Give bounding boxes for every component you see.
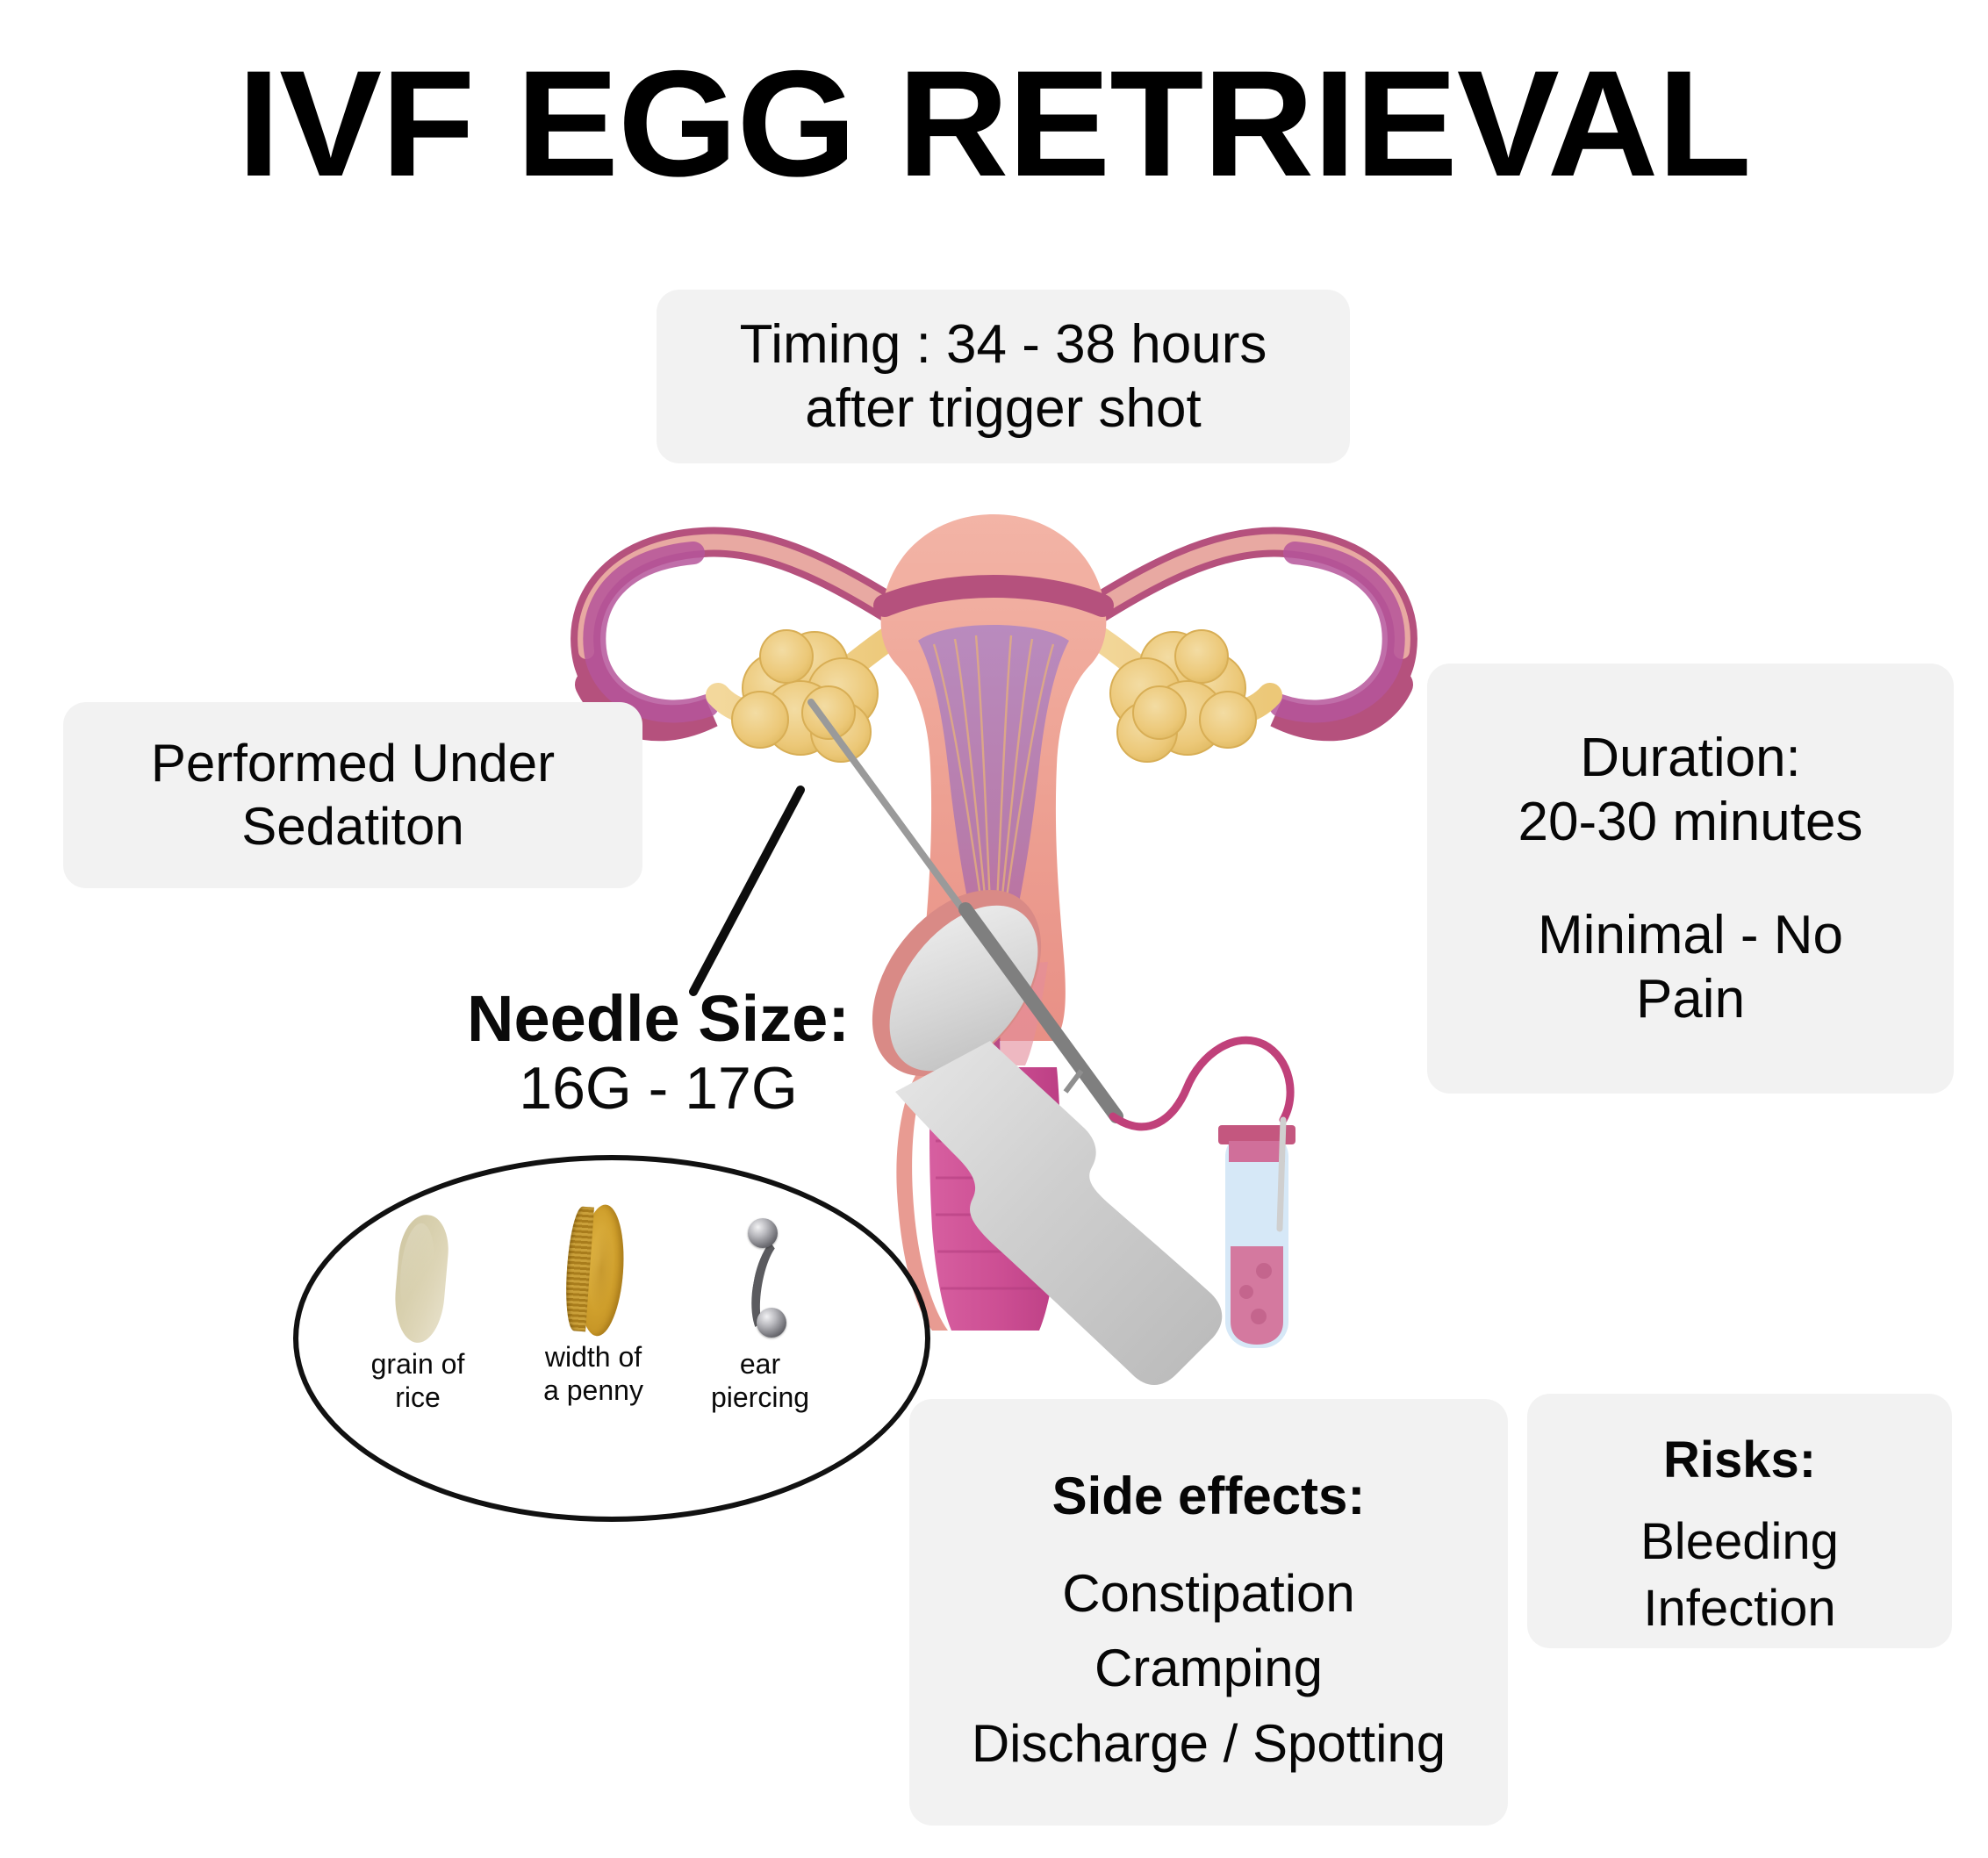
comparison-item-grain-of-rice: grain of rice <box>348 1211 488 1415</box>
pain-line-1: Minimal - No <box>1538 903 1843 967</box>
rice-label-line-1: grain of <box>348 1348 488 1381</box>
needle-size-value: 16G - 17G <box>377 1053 939 1123</box>
right-ovary <box>1110 630 1256 762</box>
collection-test-tube <box>1218 1120 1295 1348</box>
left-ovary <box>732 630 878 762</box>
sedation-line-2: Sedatiton <box>241 795 464 858</box>
penny-label-line-2: a penny <box>523 1374 664 1408</box>
timing-line-2: after trigger shot <box>805 377 1201 441</box>
rice-label-line-2: rice <box>348 1381 488 1415</box>
side-effect-item: Cramping <box>1094 1631 1323 1705</box>
needle-size-heading: Needle Size: <box>377 985 939 1053</box>
side-effect-item: Discharge / Spotting <box>972 1706 1446 1781</box>
page-title: IVF EGG RETRIEVAL <box>0 48 1988 199</box>
risk-item: Bleeding <box>1640 1509 1839 1576</box>
risk-item: Infection <box>1643 1575 1835 1643</box>
rice-grain-icon <box>348 1211 488 1343</box>
comparison-item-width-of-a-penny: width of a penny <box>523 1204 664 1408</box>
piercing-label-line-1: ear <box>690 1348 830 1381</box>
side-effect-item: Constipation <box>1062 1556 1355 1631</box>
duration-card: Duration: 20-30 minutes Minimal - No Pai… <box>1427 664 1954 1094</box>
pain-line-2: Pain <box>1636 967 1745 1031</box>
duration-line-1: Duration: <box>1580 726 1801 790</box>
comparison-item-ear-piercing: ear piercing <box>690 1211 830 1415</box>
size-comparison-ellipse: grain of rice width of a penny <box>293 1155 930 1522</box>
rice-label: grain of rice <box>348 1348 488 1415</box>
side-effects-card: Side effects: Constipation Cramping Disc… <box>909 1399 1508 1826</box>
penny-coin-icon <box>523 1204 664 1336</box>
needle-size-caption: Needle Size: 16G - 17G <box>377 985 939 1124</box>
side-effects-heading: Side effects: <box>1052 1459 1366 1533</box>
ear-piercing-barbell-icon <box>690 1211 830 1343</box>
risks-heading: Risks: <box>1663 1427 1816 1495</box>
penny-label: width of a penny <box>523 1341 664 1408</box>
piercing-label-line-2: piercing <box>690 1381 830 1415</box>
risks-card: Risks: Bleeding Infection <box>1527 1394 1952 1648</box>
piercing-label: ear piercing <box>690 1348 830 1415</box>
timing-line-1: Timing : 34 - 38 hours <box>740 312 1267 377</box>
duration-line-2: 20-30 minutes <box>1518 790 1863 854</box>
infographic-canvas: IVF EGG RETRIEVAL <box>0 0 1988 1858</box>
needle-leader-line <box>693 790 800 992</box>
sedation-line-1: Performed Under <box>151 732 555 795</box>
penny-label-line-1: width of <box>523 1341 664 1374</box>
timing-card: Timing : 34 - 38 hours after trigger sho… <box>657 290 1350 463</box>
sedation-card: Performed Under Sedatiton <box>63 702 642 888</box>
